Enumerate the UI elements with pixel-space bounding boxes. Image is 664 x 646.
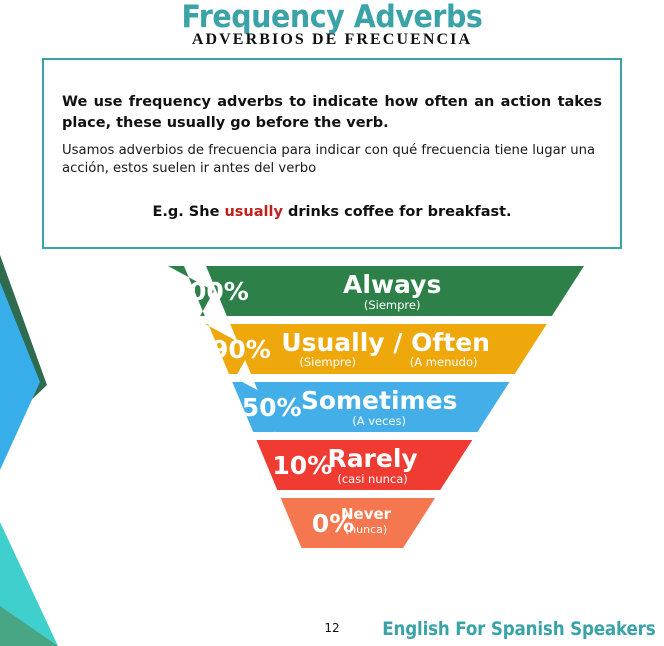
funnel-row[interactable]: 0%Never(nunca) xyxy=(281,498,435,548)
page-title-english: Frequency Adverbs xyxy=(27,0,638,33)
funnel-sublabel-text: (A veces) xyxy=(352,414,406,428)
funnel-label-text: Rarely xyxy=(327,444,417,473)
page-number: 12 xyxy=(316,621,348,635)
funnel-sublabel-text: (Siempre) xyxy=(364,298,421,312)
page-header: Frequency Adverbs ADVERBIOS DE FRECUENCI… xyxy=(0,0,664,49)
funnel-sublabel-text: (nunca) xyxy=(345,523,387,536)
funnel-sublabel2-text: (A menudo) xyxy=(410,355,478,369)
explanation-text-english: We use frequency adverbs to indicate how… xyxy=(62,92,602,134)
funnel-label-text: Never xyxy=(341,505,392,523)
funnel-percent-text: 10% xyxy=(272,451,332,480)
funnel-label-text: Sometimes xyxy=(301,386,458,415)
example-suffix: drinks coffee for breakfast. xyxy=(283,204,512,220)
frequency-funnel-chart: 100%Always(Siempre)90%Usually / Often(Si… xyxy=(0,266,664,602)
funnel-row[interactable]: 10%Rarely(casi nunca) xyxy=(257,440,473,490)
explanation-text-spanish: Usamos adverbios de frecuencia para indi… xyxy=(62,142,602,178)
example-highlight-word: usually xyxy=(224,204,282,220)
example-sentence: E.g. She usually drinks coffee for break… xyxy=(62,204,602,220)
funnel-sublabel-text: (casi nunca) xyxy=(337,472,407,486)
brand-name: English For Spanish Speakers xyxy=(383,618,656,640)
funnel-label-text: Always xyxy=(343,270,441,299)
funnel-percent-text: 90% xyxy=(211,335,271,364)
funnel-row[interactable]: 90%Usually / Often(Siempre)(A menudo) xyxy=(205,324,547,374)
example-prefix: E.g. She xyxy=(152,204,224,220)
decor-teal-green-triangle xyxy=(0,606,58,646)
funnel-row[interactable]: 100%Always(Siempre) xyxy=(168,266,584,316)
funnel-label-text: Usually / Often xyxy=(281,328,490,357)
explanation-card: We use frequency adverbs to indicate how… xyxy=(42,58,622,249)
funnel-percent-text: 100% xyxy=(172,277,249,306)
funnel-row[interactable]: 50%Sometimes(A veces) xyxy=(232,382,509,432)
funnel-sublabel-text: (Siempre) xyxy=(299,355,356,369)
funnel-percent-text: 50% xyxy=(242,393,302,422)
